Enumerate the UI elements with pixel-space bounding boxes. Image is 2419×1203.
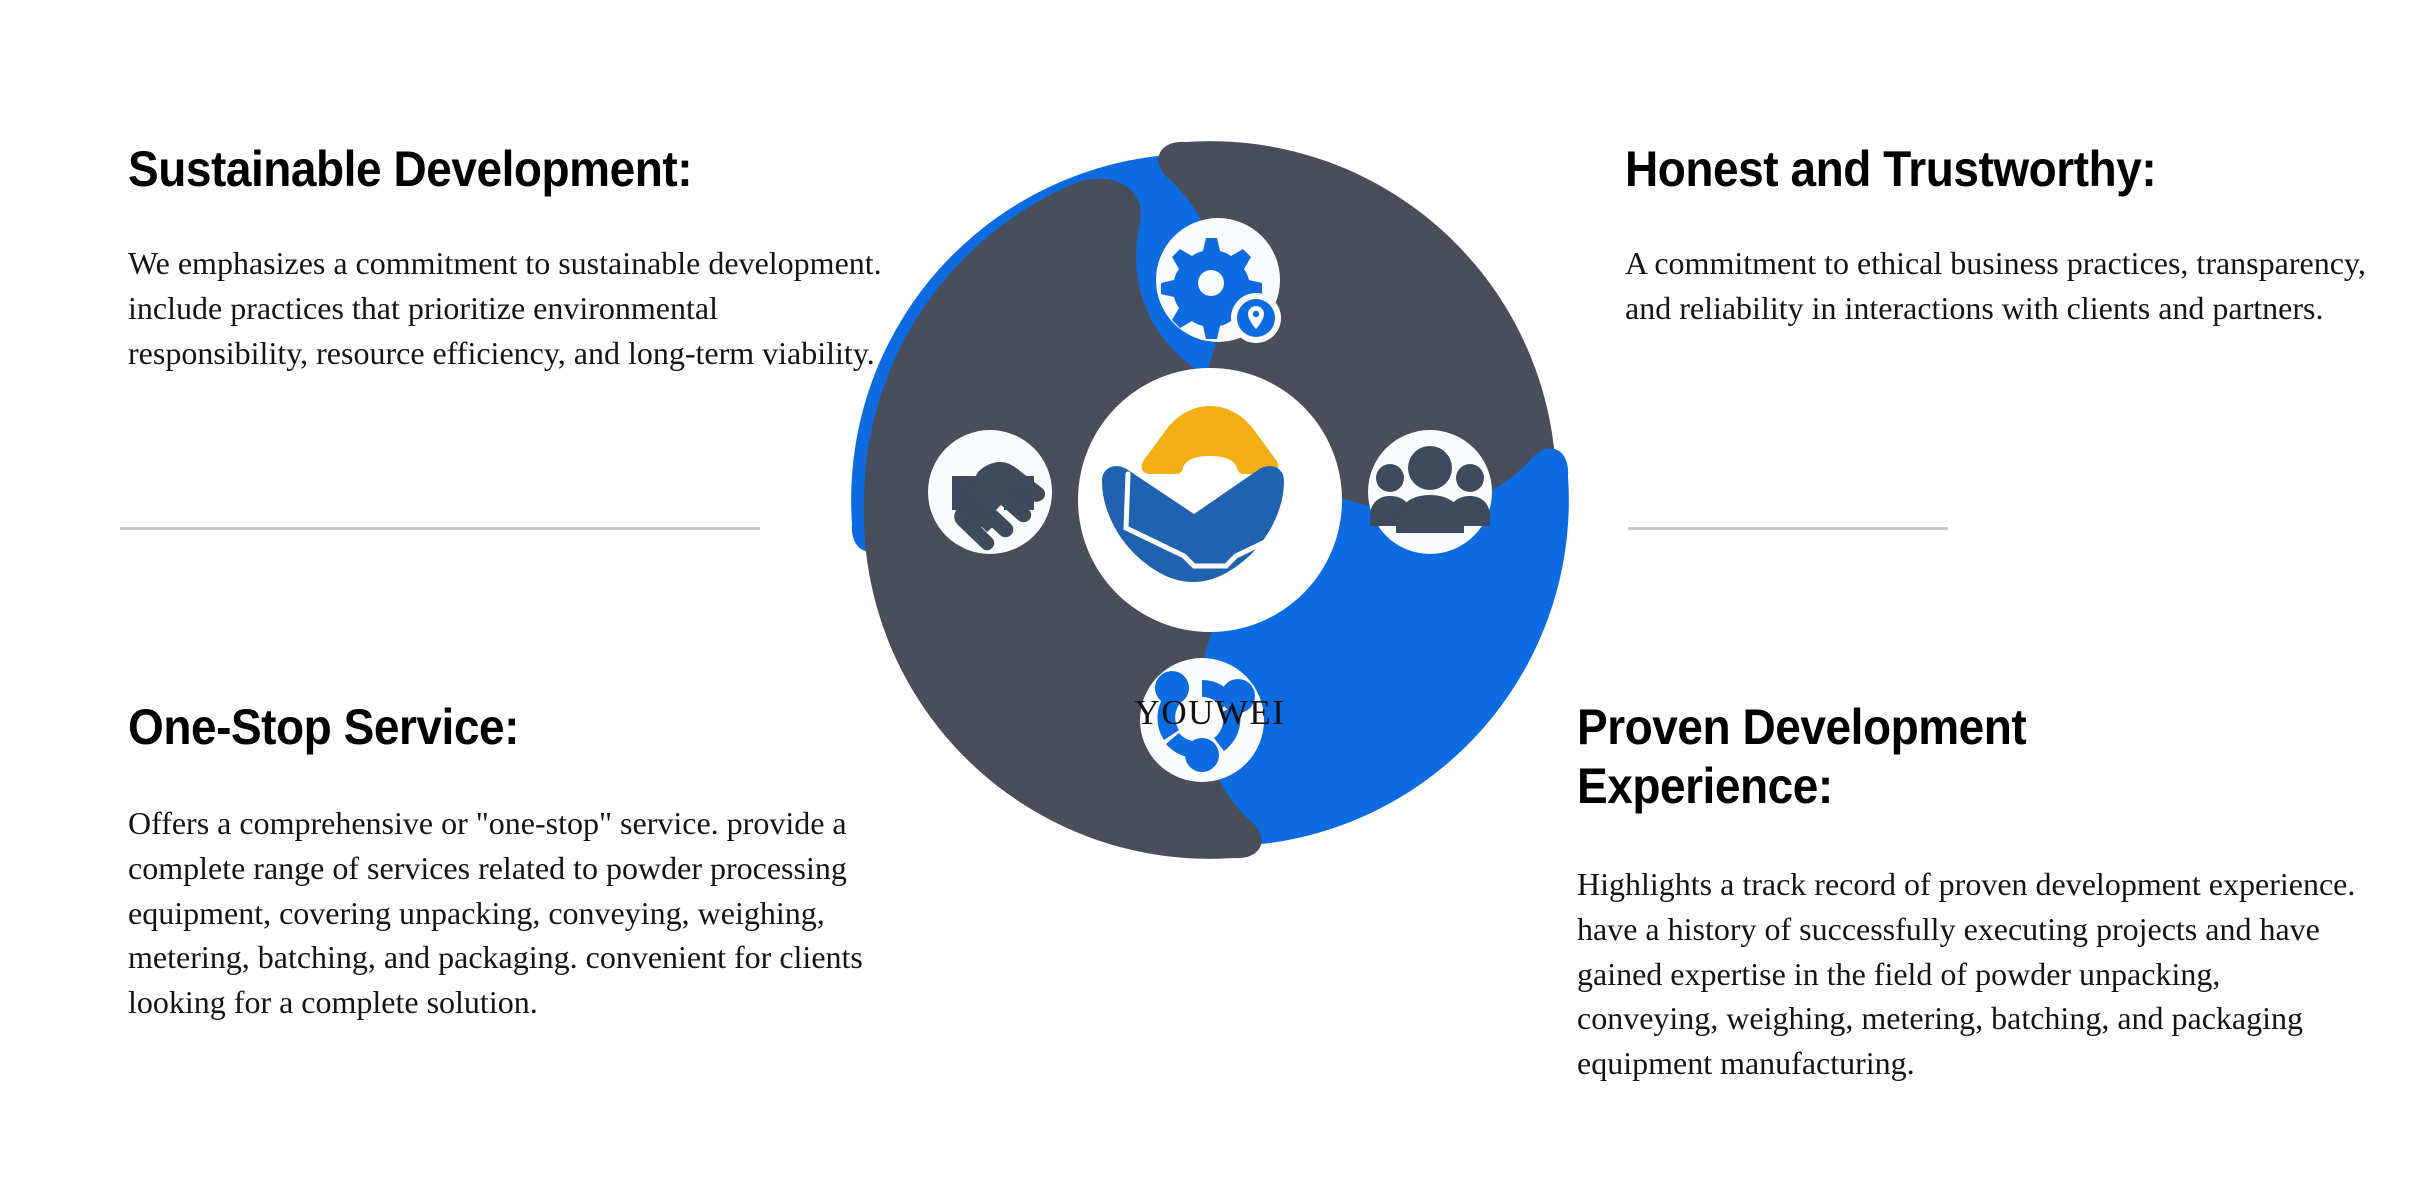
- heading-honest-trustworthy: Honest and Trustworthy:: [1625, 140, 2324, 199]
- divider-left: [120, 527, 760, 530]
- feature-block-honest-trustworthy: Honest and Trustworthy: A commitment to …: [1625, 140, 2385, 331]
- pinwheel-diagram: YOUWEI: [828, 118, 1592, 882]
- icon-badge-right[interactable]: [1368, 430, 1492, 554]
- page-canvas: Sustainable Development: We emphasizes a…: [0, 0, 2419, 1203]
- feature-block-proven-development-experience: Proven Development Experience: Highlight…: [1577, 698, 2367, 1086]
- feature-block-sustainable-development: Sustainable Development: We emphasizes a…: [128, 140, 888, 375]
- logo-wordmark: YOUWEI: [828, 693, 1592, 733]
- feature-block-one-stop-service: One-Stop Service: Offers a comprehensive…: [128, 698, 888, 1025]
- divider-right: [1628, 527, 1948, 530]
- heading-proven-development-experience: Proven Development Experience:: [1577, 698, 2304, 816]
- icon-badge-left[interactable]: [928, 430, 1052, 554]
- body-one-stop-service: Offers a comprehensive or "one-stop" ser…: [128, 801, 888, 1025]
- heading-sustainable-development: Sustainable Development:: [128, 140, 827, 199]
- body-honest-trustworthy: A commitment to ethical business practic…: [1625, 241, 2385, 331]
- heading-one-stop-service: One-Stop Service:: [128, 698, 827, 757]
- body-proven-development-experience: Highlights a track record of proven deve…: [1577, 862, 2367, 1086]
- body-sustainable-development: We emphasizes a commitment to sustainabl…: [128, 241, 888, 375]
- icon-badge-top[interactable]: [1156, 218, 1281, 343]
